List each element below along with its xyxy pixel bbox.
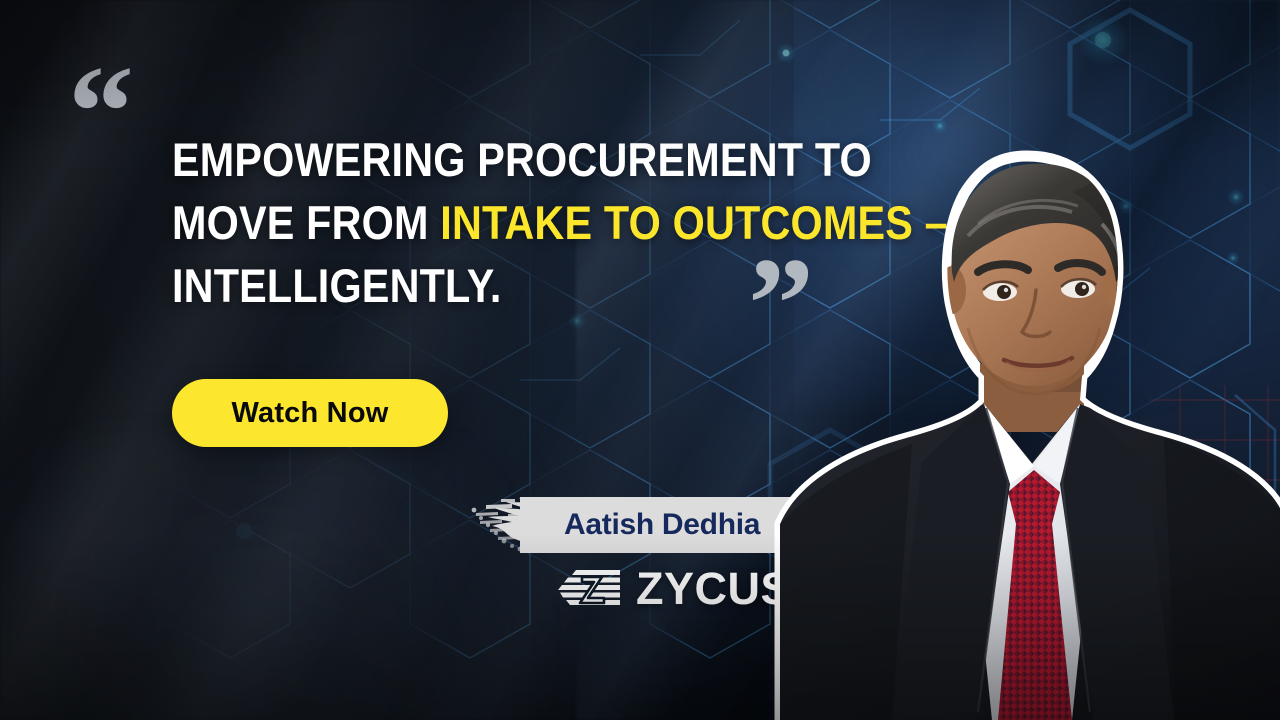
- headline-line-3: INTELLIGENTLY.: [172, 254, 735, 317]
- zycus-wordmark: ZYCUS: [636, 566, 791, 611]
- speaker-name-label: Aatish Dedhia: [564, 497, 760, 553]
- speaker-portrait: [772, 132, 1280, 720]
- watch-now-button[interactable]: Watch Now: [172, 379, 448, 447]
- zycus-mark-icon: [558, 568, 622, 610]
- headline-quote-text: EMPOWERING PROCUREMENT TO MOVE FROM INTA…: [172, 128, 735, 317]
- headline-segment: INTELLIGENTLY.: [172, 259, 502, 312]
- headline-line-2: MOVE FROM INTAKE TO OUTCOMES –: [172, 191, 735, 254]
- background-glow-bottom-left: [0, 432, 640, 720]
- promo-banner-slide: “ ” EMPOWERING PROCUREMENT TO MOVE FROM …: [0, 0, 1280, 720]
- headline-segment: EMPOWERING PROCUREMENT TO: [172, 133, 872, 186]
- zycus-logo: ZYCUS: [558, 566, 791, 611]
- headline-segment: MOVE FROM: [172, 196, 440, 249]
- headline-line-1: EMPOWERING PROCUREMENT TO: [172, 128, 735, 191]
- quote-open-icon: “: [68, 46, 134, 178]
